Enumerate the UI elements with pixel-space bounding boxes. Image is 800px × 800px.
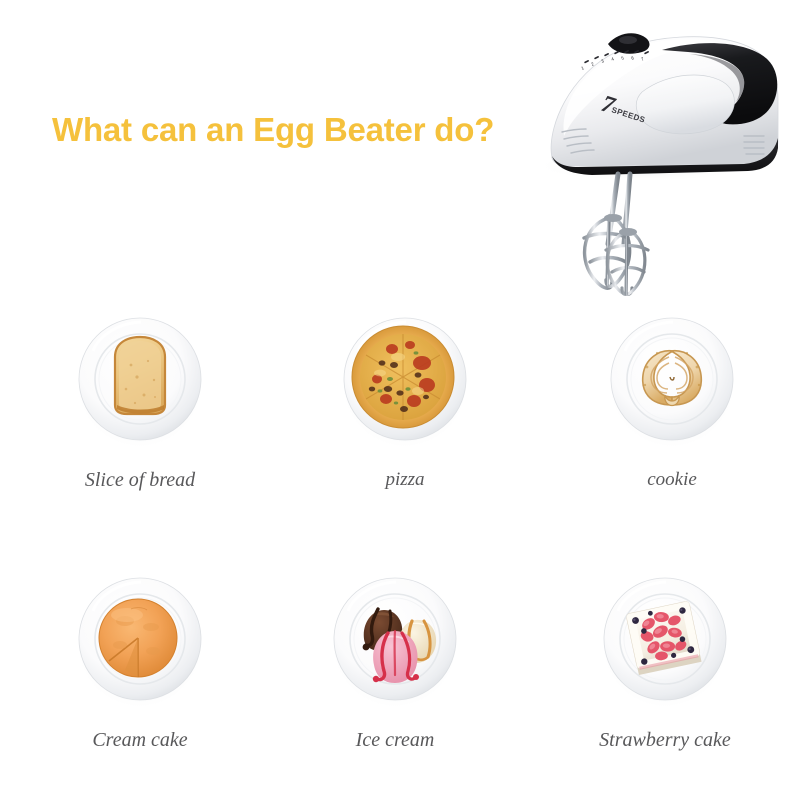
- item-slice-of-bread: Slice of bread: [45, 305, 235, 492]
- item-ice-cream: Ice cream: [300, 565, 490, 752]
- product-image-egg-beater: 1 2 3 4 5 6 7 7 SPEEDS: [512, 8, 800, 318]
- beater-attachments: [584, 174, 648, 294]
- plate-strawberry-cake: [590, 565, 740, 715]
- food-pizza-pie: [352, 326, 454, 428]
- item-strawberry-cake: Strawberry cake: [570, 565, 760, 752]
- plate-cream-cake: [65, 565, 215, 715]
- slider-highlight: [619, 36, 637, 44]
- svg-text:1: 1: [580, 65, 585, 71]
- food-square-cream-cake: [626, 601, 701, 675]
- item-pizza: pizza: [310, 305, 500, 491]
- food-toast-slice: [115, 337, 165, 414]
- plate-cookie: [597, 305, 747, 455]
- caption-strawberry-cake: Strawberry cake: [570, 729, 760, 752]
- plate-pizza: [330, 305, 480, 455]
- page-title: What can an Egg Beater do?: [52, 111, 494, 149]
- plate-ice-cream: [320, 565, 470, 715]
- caption-pizza: pizza: [310, 469, 500, 491]
- plate-slice-of-bread: [65, 305, 215, 455]
- food-round-sponge-cake: [99, 599, 177, 677]
- caption-slice-of-bread: Slice of bread: [45, 469, 235, 492]
- item-cookie: cookie: [577, 305, 767, 491]
- caption-cream-cake: Cream cake: [45, 729, 235, 752]
- caption-cookie: cookie: [577, 469, 767, 491]
- caption-ice-cream: Ice cream: [300, 729, 490, 752]
- product-feature-image: What can an Egg Beater do?: [0, 0, 800, 800]
- item-cream-cake: Cream cake: [45, 565, 235, 752]
